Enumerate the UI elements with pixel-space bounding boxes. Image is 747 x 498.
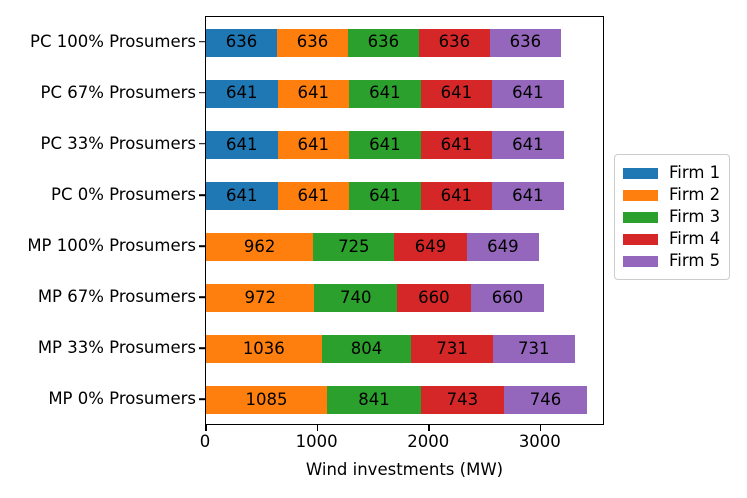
legend-item[interactable]: Firm 4 bbox=[623, 228, 720, 250]
bar-segment: 1036 bbox=[206, 335, 322, 363]
bar-segment-value: 731 bbox=[518, 341, 550, 358]
y-axis-tick-label: MP 33% Prosumers bbox=[38, 340, 196, 357]
bar-segment: 636 bbox=[348, 29, 419, 57]
bar-segment: 740 bbox=[314, 284, 397, 312]
bar-segment: 641 bbox=[206, 131, 278, 159]
bar-segment-value: 641 bbox=[441, 188, 473, 205]
bar-row: 1085841743746 bbox=[206, 386, 587, 414]
legend-item[interactable]: Firm 3 bbox=[623, 206, 720, 228]
bar-segment: 962 bbox=[206, 233, 313, 261]
legend-item[interactable]: Firm 2 bbox=[623, 184, 720, 206]
bar-row: 972740660660 bbox=[206, 284, 544, 312]
bar-segment: 804 bbox=[322, 335, 412, 363]
bar-segment-value: 636 bbox=[368, 34, 400, 51]
bar-segment-value: 641 bbox=[369, 188, 401, 205]
bar-segment: 641 bbox=[492, 131, 564, 159]
bar-segment: 636 bbox=[206, 29, 277, 57]
bar-segment: 641 bbox=[206, 80, 278, 108]
y-axis-tick-label: MP 67% Prosumers bbox=[38, 289, 196, 306]
bar-segment: 725 bbox=[313, 233, 394, 261]
y-axis-tick-label: PC 0% Prosumers bbox=[51, 187, 196, 204]
legend-color-swatch bbox=[623, 256, 658, 267]
bar-segment: 641 bbox=[349, 131, 421, 159]
bar-segment-value: 636 bbox=[297, 34, 329, 51]
legend-color-swatch bbox=[623, 190, 658, 201]
bar-row: 636636636636636 bbox=[206, 29, 561, 57]
bar-segment-value: 641 bbox=[441, 137, 473, 154]
bar-segment-value: 649 bbox=[487, 239, 519, 256]
bar-segment: 641 bbox=[206, 182, 278, 210]
bar-segment-value: 804 bbox=[351, 341, 383, 358]
bar-segment: 731 bbox=[411, 335, 493, 363]
x-axis-tick-label: 3000 bbox=[519, 434, 561, 451]
bar-segment-value: 636 bbox=[510, 34, 542, 51]
x-axis-tick-label: 1000 bbox=[296, 434, 338, 451]
bar-segment-value: 636 bbox=[439, 34, 471, 51]
bar-segment: 641 bbox=[349, 182, 421, 210]
y-axis-tick-label: PC 100% Prosumers bbox=[30, 33, 196, 50]
bar-segment: 649 bbox=[467, 233, 539, 261]
bar-segment-value: 725 bbox=[338, 239, 370, 256]
legend-label: Firm 2 bbox=[669, 187, 720, 204]
bar-segment: 636 bbox=[419, 29, 490, 57]
x-axis-tick-mark bbox=[205, 425, 207, 431]
y-axis-tick-label: PC 33% Prosumers bbox=[41, 136, 196, 153]
y-axis-tick-label: MP 100% Prosumers bbox=[27, 238, 196, 255]
bar-segment-value: 660 bbox=[418, 290, 450, 307]
legend-label: Firm 4 bbox=[669, 231, 720, 248]
legend-label: Firm 5 bbox=[669, 253, 720, 270]
bar-row: 641641641641641 bbox=[206, 182, 564, 210]
bar-segment: 641 bbox=[492, 80, 564, 108]
bar-segment-value: 641 bbox=[512, 85, 544, 102]
bar-segment-value: 746 bbox=[530, 392, 562, 409]
bar-segment-value: 636 bbox=[226, 34, 258, 51]
bar-segment: 660 bbox=[397, 284, 471, 312]
bar-segment-value: 641 bbox=[441, 85, 473, 102]
bar-segment: 746 bbox=[504, 386, 587, 414]
bar-segment-value: 841 bbox=[358, 392, 390, 409]
legend-color-swatch bbox=[623, 234, 658, 245]
bar-segment-value: 641 bbox=[298, 137, 330, 154]
bar-segment: 641 bbox=[421, 80, 493, 108]
plot-area: 6366366366366366416416416416416416416416… bbox=[205, 16, 604, 425]
bar-segment-value: 731 bbox=[436, 341, 468, 358]
chart-figure: PC 100% ProsumersPC 67% ProsumersPC 33% … bbox=[0, 0, 747, 498]
bar-segment-value: 1085 bbox=[246, 392, 288, 409]
x-axis-tick-label: 2000 bbox=[407, 434, 449, 451]
bar-segment: 972 bbox=[206, 284, 314, 312]
legend-item[interactable]: Firm 1 bbox=[623, 162, 720, 184]
bar-segment-value: 641 bbox=[512, 137, 544, 154]
legend-label: Firm 1 bbox=[669, 165, 720, 182]
stacked-bars-layer: 6366366366366366416416416416416416416416… bbox=[206, 17, 603, 424]
legend: Firm 1Firm 2Firm 3Firm 4Firm 5 bbox=[614, 154, 730, 280]
legend-color-swatch bbox=[623, 168, 658, 179]
bar-row: 641641641641641 bbox=[206, 131, 564, 159]
bar-row: 1036804731731 bbox=[206, 335, 575, 363]
bar-row: 962725649649 bbox=[206, 233, 539, 261]
bar-segment: 649 bbox=[394, 233, 466, 261]
bar-segment: 641 bbox=[278, 182, 350, 210]
bar-segment: 841 bbox=[327, 386, 421, 414]
bar-segment-value: 740 bbox=[340, 290, 372, 307]
bar-segment: 641 bbox=[278, 131, 350, 159]
bar-segment: 636 bbox=[277, 29, 348, 57]
y-axis-tick-label: PC 67% Prosumers bbox=[41, 84, 196, 101]
bar-segment: 1085 bbox=[206, 386, 327, 414]
bar-segment: 731 bbox=[493, 335, 575, 363]
x-axis-tick-mark bbox=[428, 425, 430, 431]
bar-segment: 641 bbox=[349, 80, 421, 108]
bar-segment-value: 641 bbox=[298, 85, 330, 102]
bar-segment-value: 660 bbox=[492, 290, 524, 307]
bar-segment: 641 bbox=[421, 182, 493, 210]
bar-segment-value: 962 bbox=[244, 239, 276, 256]
bar-segment: 636 bbox=[490, 29, 561, 57]
x-axis-tick-label: 0 bbox=[200, 434, 211, 451]
bar-segment-value: 641 bbox=[369, 137, 401, 154]
bar-segment-value: 972 bbox=[244, 290, 276, 307]
x-axis-tick-mark bbox=[540, 425, 542, 431]
x-axis-tick-mark bbox=[317, 425, 319, 431]
legend-color-swatch bbox=[623, 212, 658, 223]
bar-segment-value: 641 bbox=[369, 85, 401, 102]
bar-segment-value: 641 bbox=[226, 137, 258, 154]
bar-segment: 743 bbox=[421, 386, 504, 414]
bar-segment-value: 641 bbox=[226, 85, 258, 102]
y-axis-tick-label: MP 0% Prosumers bbox=[48, 391, 196, 408]
bar-segment-value: 641 bbox=[512, 188, 544, 205]
bar-segment: 641 bbox=[492, 182, 564, 210]
bar-segment: 660 bbox=[471, 284, 545, 312]
bar-segment-value: 641 bbox=[298, 188, 330, 205]
bar-segment-value: 1036 bbox=[243, 341, 285, 358]
bar-segment: 641 bbox=[278, 80, 350, 108]
bar-row: 641641641641641 bbox=[206, 80, 564, 108]
legend-item[interactable]: Firm 5 bbox=[623, 250, 720, 272]
bar-segment-value: 641 bbox=[226, 188, 258, 205]
bar-segment: 641 bbox=[421, 131, 493, 159]
bar-segment-value: 743 bbox=[447, 392, 479, 409]
x-axis-label: Wind investments (MW) bbox=[205, 462, 604, 479]
legend-label: Firm 3 bbox=[669, 209, 720, 226]
bar-segment-value: 649 bbox=[415, 239, 447, 256]
